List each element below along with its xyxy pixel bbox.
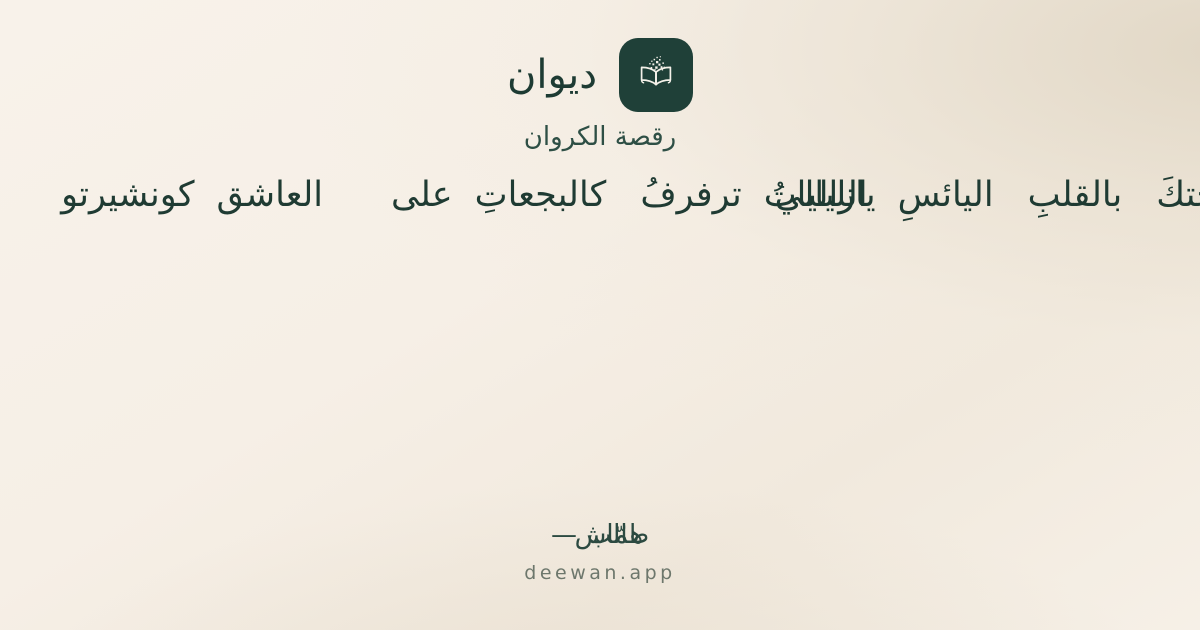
open-book-sparkles-icon (633, 52, 679, 98)
verse-word: كالبجعاتِ (475, 164, 607, 226)
verse-overlapping-words: يازالياتُالليالي (764, 164, 876, 226)
verse-word-over: الليالي (775, 164, 868, 226)
verse-word: ترفرفُ (640, 164, 741, 226)
verse-word: حتكَ (1156, 164, 1200, 226)
poem-author: طالبهمّاش— (551, 519, 649, 552)
verse-word: بالقلبِ (1028, 164, 1123, 226)
verse-strip: حتكَبالقلبِاليائسِيازالياتُاللياليترفرفُ… (0, 164, 1200, 226)
app-logo-tile (619, 38, 693, 112)
verse-word: العاشق (217, 164, 323, 226)
verse-word: اليائسِ (898, 164, 994, 226)
card-footer: طالبهمّاش— deewan.app (0, 519, 1200, 586)
verse-line: حتكَبالقلبِاليائسِيازالياتُاللياليترفرفُ… (61, 164, 1200, 226)
brand-row: ديوان (0, 38, 1200, 112)
site-url: deewan.app (0, 561, 1200, 586)
poem-title: رقصة الكروان (0, 120, 1200, 155)
author-overlapping-words: طالبهمّاش (587, 519, 649, 552)
verse-word: على (391, 164, 453, 226)
app-name: ديوان (507, 55, 597, 95)
verse-word: كونشيرتو (61, 164, 194, 226)
author-word-over: همّاش (575, 519, 643, 552)
share-card: ديوان رقصة الكروان حتكَبالقلبِاليائسِياز… (0, 0, 1200, 630)
